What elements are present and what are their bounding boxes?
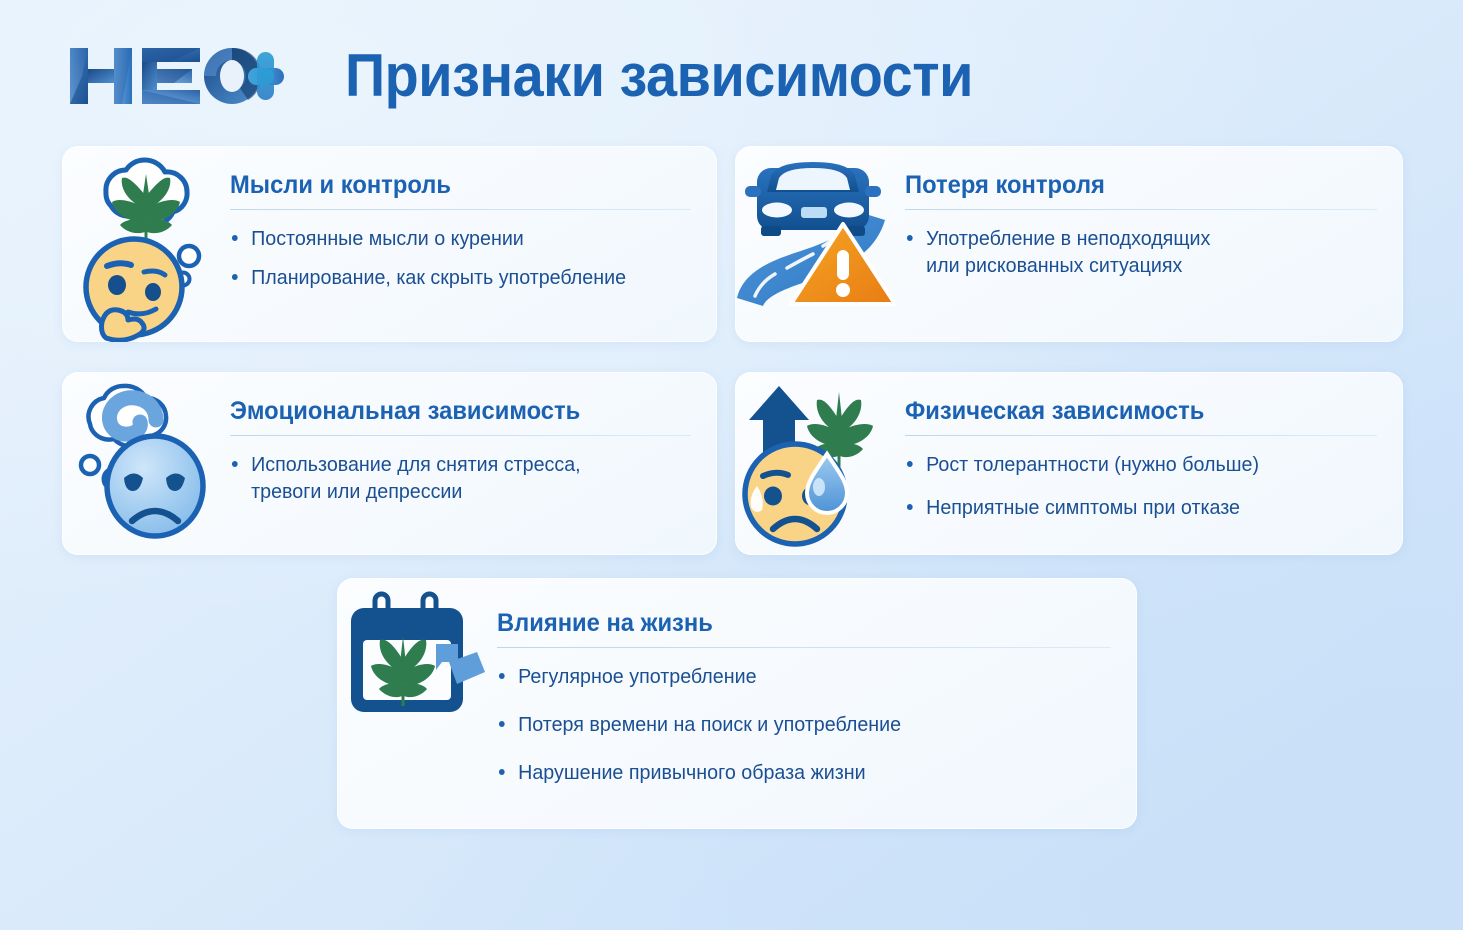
bullet-dot: [907, 461, 913, 467]
card-impact-on-life: Влияние на жизнь Регулярное употребление…: [337, 578, 1137, 829]
list-item: Регулярное употребление: [497, 664, 1086, 689]
list-item: Неприятные симптомы при отказе: [905, 495, 1358, 520]
list-item: Нарушение привычного образа жизни: [497, 760, 1086, 785]
neo-plus-logo: [62, 42, 287, 110]
sweating-face-with-up-arrow-and-cannabis-leaf-icon: [735, 372, 905, 555]
list-item: Потеря времени на поиск и употребление: [497, 712, 1086, 737]
bullet-text: Использование для снятия стресса,: [251, 453, 581, 476]
sad-blue-face-with-thought-bubble-icon: [62, 372, 230, 555]
card-heading: Мысли и контроль: [230, 170, 668, 200]
card-thoughts-and-control: Мысли и контроль Постоянные мысли о куре…: [62, 146, 717, 342]
card-heading: Физическая зависимость: [905, 396, 1353, 426]
card-bullet-list: Постоянные мысли о курении Планирование,…: [230, 226, 691, 290]
card-divider: [905, 209, 1377, 210]
bullet-text: Неприятные симптомы при отказе: [926, 496, 1240, 519]
bullet-dot: [232, 274, 238, 280]
bullet-dot: [499, 721, 505, 727]
card-body: Влияние на жизнь Регулярное употребление…: [497, 578, 1137, 808]
list-item: Постоянные мысли о курении: [230, 226, 673, 251]
list-item: Рост толерантности (нужно больше): [905, 452, 1358, 477]
card-divider: [230, 209, 691, 210]
card-bullet-list: Рост толерантности (нужно больше) Неприя…: [905, 452, 1377, 520]
bullet-dot: [499, 769, 505, 775]
list-item: Планирование, как скрыть употребление: [230, 265, 673, 290]
list-item: Употребление в неподходящих: [905, 226, 1358, 251]
bullet-dot: [232, 461, 238, 467]
card-emotional-dependence: Эмоциональная зависимость Использование …: [62, 372, 717, 555]
card-bullet-list: Регулярное употребление Потеря времени н…: [497, 664, 1111, 785]
card-loss-of-control: Потеря контроля Употребление в неподходя…: [735, 146, 1403, 342]
car-on-winding-road-with-warning-triangle-icon: [735, 146, 905, 342]
card-divider: [230, 435, 691, 436]
bullet-text: Регулярное употребление: [518, 665, 756, 688]
bullet-dot: [907, 235, 913, 241]
bullet-dot: [499, 673, 505, 679]
bullet-text: тревоги или депрессии: [251, 480, 462, 503]
list-item: или рискованных ситуациях: [905, 253, 1358, 278]
page-header: Признаки зависимости: [0, 0, 1463, 140]
card-body: Потеря контроля Употребление в неподходя…: [905, 146, 1403, 280]
bullet-text: Рост толерантности (нужно больше): [926, 453, 1259, 476]
card-bullet-list: Использование для снятия стресса, тревог…: [230, 452, 691, 504]
card-divider: [497, 647, 1111, 648]
bullet-dot: [907, 504, 913, 510]
card-divider: [905, 435, 1377, 436]
bullet-text: или рискованных ситуациях: [926, 254, 1182, 277]
bullet-text: Нарушение привычного образа жизни: [518, 761, 866, 784]
card-body: Эмоциональная зависимость Использование …: [230, 372, 717, 506]
card-physical-dependence: Физическая зависимость Рост толерантност…: [735, 372, 1403, 555]
list-item: Использование для снятия стресса,: [230, 452, 673, 477]
bullet-text: Постоянные мысли о курении: [251, 227, 524, 250]
list-item: тревоги или депрессии: [230, 479, 673, 504]
bullet-text: Планирование, как скрыть употребление: [251, 266, 626, 289]
bullet-dot: [232, 235, 238, 241]
bullet-text: Потеря времени на поиск и употребление: [518, 713, 901, 736]
page-title: Признаки зависимости: [345, 42, 973, 110]
card-heading: Потеря контроля: [905, 170, 1353, 200]
card-body: Мысли и контроль Постоянные мысли о куре…: [230, 146, 717, 290]
card-heading: Эмоциональная зависимость: [230, 396, 668, 426]
card-bullet-list: Употребление в неподходящих или рискован…: [905, 226, 1377, 278]
thinking-face-with-cannabis-thought-bubble-icon: [62, 146, 230, 342]
card-body: Физическая зависимость Рост толерантност…: [905, 372, 1403, 520]
calendar-with-cannabis-leaf-icon: [337, 578, 497, 829]
card-heading: Влияние на жизнь: [497, 608, 1080, 638]
bullet-text: Употребление в неподходящих: [926, 227, 1210, 250]
